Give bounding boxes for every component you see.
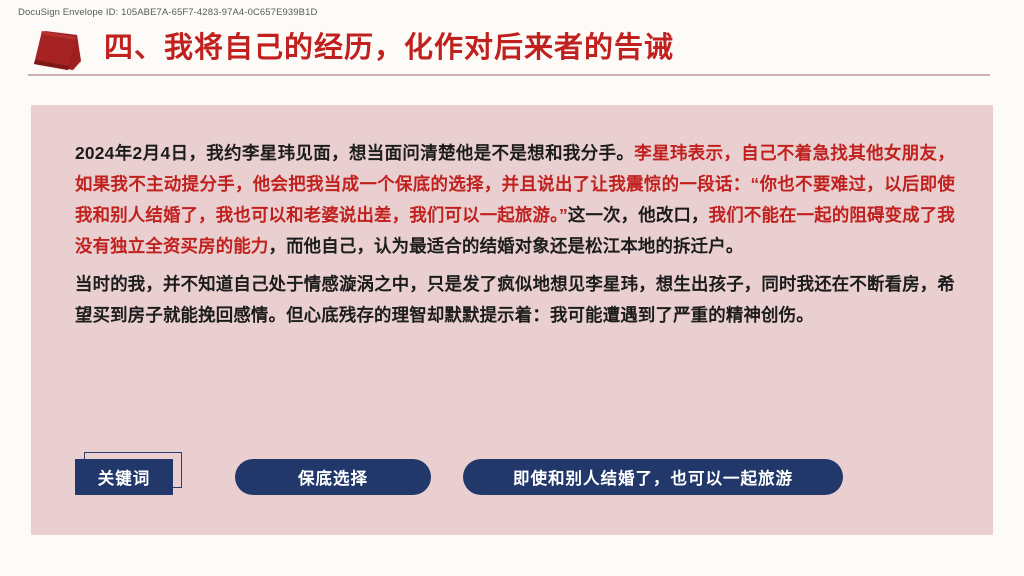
paragraph-1: 2024年2月4日，我约李星玮见面，想当面问清楚他是不是想和我分手。李星玮表示，… (75, 138, 955, 262)
keyword-label: 关键词 (75, 459, 173, 495)
content-panel: 2024年2月4日，我约李星玮见面，想当面问清楚他是不是想和我分手。李星玮表示，… (31, 105, 993, 535)
keyword-tag-jishi-jiehun-lvyou[interactable]: 即使和别人结婚了，也可以一起旅游 (463, 459, 843, 495)
slide-header: 四、我将自己的经历，化作对后来者的告诫 (0, 22, 1024, 80)
paragraph-1-segment-dark-1: 2024年2月4日，我约李星玮见面，想当面问清楚他是不是想和我分手。 (75, 143, 634, 163)
paragraph-1-segment-dark-2: 这一次，他改口， (568, 205, 709, 225)
paragraph-1-segment-dark-3: ，而他自己，认为最适合的结婚对象还是松江本地的拆迁户。 (269, 236, 744, 256)
paragraph-2: 当时的我，并不知道自己处于情感漩涡之中，只是发了疯似地想见李星玮，想生出孩子，同… (75, 269, 955, 331)
keyword-tag-baodi-xuanze[interactable]: 保底选择 (235, 459, 431, 495)
page-title: 四、我将自己的经历，化作对后来者的告诫 (104, 28, 674, 68)
body-text: 2024年2月4日，我约李星玮见面，想当面问清楚他是不是想和我分手。李星玮表示，… (75, 138, 955, 331)
title-divider (28, 74, 990, 76)
paragraph-2-text: 当时的我，并不知道自己处于情感漩涡之中，只是发了疯似地想见李星玮，想生出孩子，同… (75, 274, 955, 325)
book-icon (26, 28, 86, 76)
keyword-label-group: 关键词 (75, 459, 179, 495)
docusign-envelope-id: DocuSign Envelope ID: 105ABE7A-65F7-4283… (18, 7, 317, 18)
